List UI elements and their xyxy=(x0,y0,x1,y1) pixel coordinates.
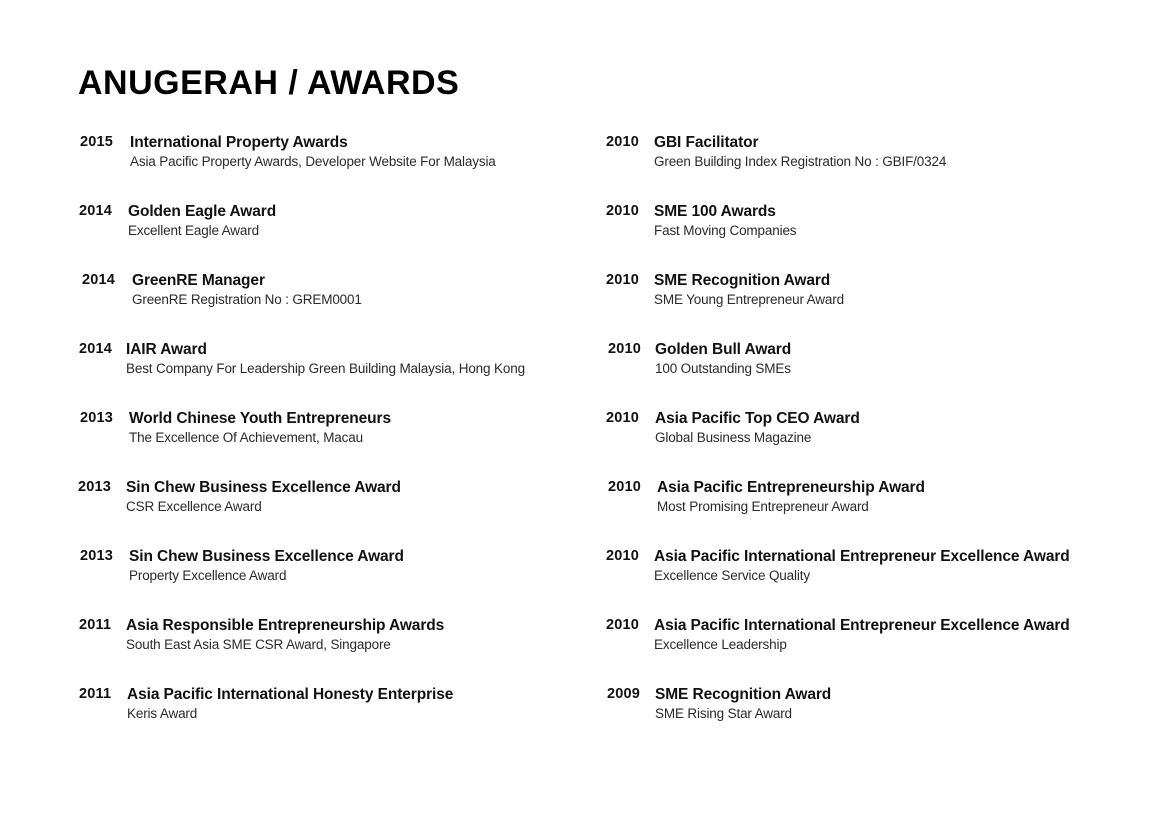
award-entry: 2014GreenRE ManagerGreenRE Registration … xyxy=(78,272,588,341)
award-subtitle: Excellence Leadership xyxy=(654,636,1070,653)
award-body: Golden Eagle AwardExcellent Eagle Award xyxy=(128,203,276,239)
award-entry: 2011Asia Responsible Entrepreneurship Aw… xyxy=(78,617,588,686)
award-subtitle: SME Rising Star Award xyxy=(655,705,831,722)
award-year: 2010 xyxy=(606,203,639,219)
award-entry: 2010Asia Pacific Entrepreneurship AwardM… xyxy=(602,479,1142,548)
award-year: 2011 xyxy=(79,617,111,633)
award-entry: 2010Asia Pacific International Entrepren… xyxy=(602,548,1142,617)
award-subtitle: The Excellence Of Achievement, Macau xyxy=(129,429,391,446)
award-body: GBI FacilitatorGreen Building Index Regi… xyxy=(654,134,946,170)
award-title: Asia Pacific Top CEO Award xyxy=(655,410,860,428)
award-subtitle: CSR Excellence Award xyxy=(126,498,401,515)
award-title: SME Recognition Award xyxy=(655,686,831,704)
award-subtitle: 100 Outstanding SMEs xyxy=(655,360,791,377)
award-subtitle: Asia Pacific Property Awards, Developer … xyxy=(130,153,496,170)
award-year: 2010 xyxy=(606,617,639,633)
award-body: World Chinese Youth EntrepreneursThe Exc… xyxy=(129,410,391,446)
award-subtitle: Most Promising Entrepreneur Award xyxy=(657,498,925,515)
award-body: Asia Pacific Entrepreneurship AwardMost … xyxy=(657,479,925,515)
award-title: Asia Pacific International Entrepreneur … xyxy=(654,617,1070,635)
page-title: ANUGERAH / AWARDS xyxy=(78,64,459,103)
award-subtitle: Excellence Service Quality xyxy=(654,567,1070,584)
award-body: IAIR AwardBest Company For Leadership Gr… xyxy=(126,341,525,377)
award-title: Asia Pacific International Entrepreneur … xyxy=(654,548,1070,566)
award-body: Asia Pacific International Entrepreneur … xyxy=(654,617,1070,653)
awards-column-right: 2010GBI FacilitatorGreen Building Index … xyxy=(602,134,1142,755)
award-title: International Property Awards xyxy=(130,134,496,152)
award-body: GreenRE ManagerGreenRE Registration No :… xyxy=(132,272,362,308)
award-body: International Property AwardsAsia Pacifi… xyxy=(130,134,496,170)
award-subtitle: Property Excellence Award xyxy=(129,567,404,584)
award-entry: 2014Golden Eagle AwardExcellent Eagle Aw… xyxy=(78,203,588,272)
award-body: SME 100 AwardsFast Moving Companies xyxy=(654,203,796,239)
award-year: 2013 xyxy=(80,410,113,426)
award-title: Sin Chew Business Excellence Award xyxy=(126,479,401,497)
award-entry: 2010SME Recognition AwardSME Young Entre… xyxy=(602,272,1142,341)
award-entry: 2015International Property AwardsAsia Pa… xyxy=(78,134,588,203)
award-year: 2013 xyxy=(78,479,111,495)
award-title: Golden Eagle Award xyxy=(128,203,276,221)
award-entry: 2009SME Recognition AwardSME Rising Star… xyxy=(602,686,1142,755)
award-subtitle: Excellent Eagle Award xyxy=(128,222,276,239)
award-subtitle: Keris Award xyxy=(127,705,453,722)
award-entry: 2013World Chinese Youth EntrepreneursThe… xyxy=(78,410,588,479)
award-entry: 2010Asia Pacific Top CEO AwardGlobal Bus… xyxy=(602,410,1142,479)
award-body: Asia Pacific Top CEO AwardGlobal Busines… xyxy=(655,410,860,446)
award-year: 2009 xyxy=(607,686,640,702)
award-entry: 2013Sin Chew Business Excellence AwardPr… xyxy=(78,548,588,617)
award-title: Golden Bull Award xyxy=(655,341,791,359)
award-body: SME Recognition AwardSME Young Entrepren… xyxy=(654,272,844,308)
award-year: 2014 xyxy=(79,203,112,219)
award-subtitle: Best Company For Leadership Green Buildi… xyxy=(126,360,525,377)
award-subtitle: Fast Moving Companies xyxy=(654,222,796,239)
award-entry: 2010GBI FacilitatorGreen Building Index … xyxy=(602,134,1142,203)
award-body: Asia Pacific International Entrepreneur … xyxy=(654,548,1070,584)
award-body: Sin Chew Business Excellence AwardProper… xyxy=(129,548,404,584)
award-subtitle: GreenRE Registration No : GREM0001 xyxy=(132,291,362,308)
award-entry: 2010SME 100 AwardsFast Moving Companies xyxy=(602,203,1142,272)
award-body: Sin Chew Business Excellence AwardCSR Ex… xyxy=(126,479,401,515)
award-year: 2010 xyxy=(608,341,641,357)
award-body: Asia Responsible Entrepreneurship Awards… xyxy=(126,617,444,653)
award-title: Sin Chew Business Excellence Award xyxy=(129,548,404,566)
award-year: 2010 xyxy=(606,272,639,288)
award-year: 2015 xyxy=(80,134,113,150)
award-year: 2014 xyxy=(79,341,112,357)
award-year: 2014 xyxy=(82,272,115,288)
award-title: SME 100 Awards xyxy=(654,203,796,221)
award-year: 2013 xyxy=(80,548,113,564)
award-entry: 2013Sin Chew Business Excellence AwardCS… xyxy=(78,479,588,548)
award-body: Asia Pacific International Honesty Enter… xyxy=(127,686,453,722)
award-title: Asia Pacific Entrepreneurship Award xyxy=(657,479,925,497)
award-entry: 2011Asia Pacific International Honesty E… xyxy=(78,686,588,755)
award-year: 2010 xyxy=(606,134,639,150)
award-title: GBI Facilitator xyxy=(654,134,946,152)
award-entry: 2010Asia Pacific International Entrepren… xyxy=(602,617,1142,686)
award-body: Golden Bull Award100 Outstanding SMEs xyxy=(655,341,791,377)
award-title: IAIR Award xyxy=(126,341,525,359)
award-year: 2010 xyxy=(606,548,639,564)
award-title: World Chinese Youth Entrepreneurs xyxy=(129,410,391,428)
award-subtitle: Green Building Index Registration No : G… xyxy=(654,153,946,170)
award-title: Asia Responsible Entrepreneurship Awards xyxy=(126,617,444,635)
award-year: 2011 xyxy=(79,686,111,702)
award-title: SME Recognition Award xyxy=(654,272,844,290)
award-title: GreenRE Manager xyxy=(132,272,362,290)
award-entry: 2010Golden Bull Award100 Outstanding SME… xyxy=(602,341,1142,410)
award-subtitle: Global Business Magazine xyxy=(655,429,860,446)
award-year: 2010 xyxy=(608,479,641,495)
award-entry: 2014IAIR AwardBest Company For Leadershi… xyxy=(78,341,588,410)
award-title: Asia Pacific International Honesty Enter… xyxy=(127,686,453,704)
awards-page: ANUGERAH / AWARDS 2015International Prop… xyxy=(0,0,1170,828)
award-subtitle: SME Young Entrepreneur Award xyxy=(654,291,844,308)
award-year: 2010 xyxy=(606,410,639,426)
award-body: SME Recognition AwardSME Rising Star Awa… xyxy=(655,686,831,722)
awards-column-left: 2015International Property AwardsAsia Pa… xyxy=(78,134,588,755)
award-subtitle: South East Asia SME CSR Award, Singapore xyxy=(126,636,444,653)
